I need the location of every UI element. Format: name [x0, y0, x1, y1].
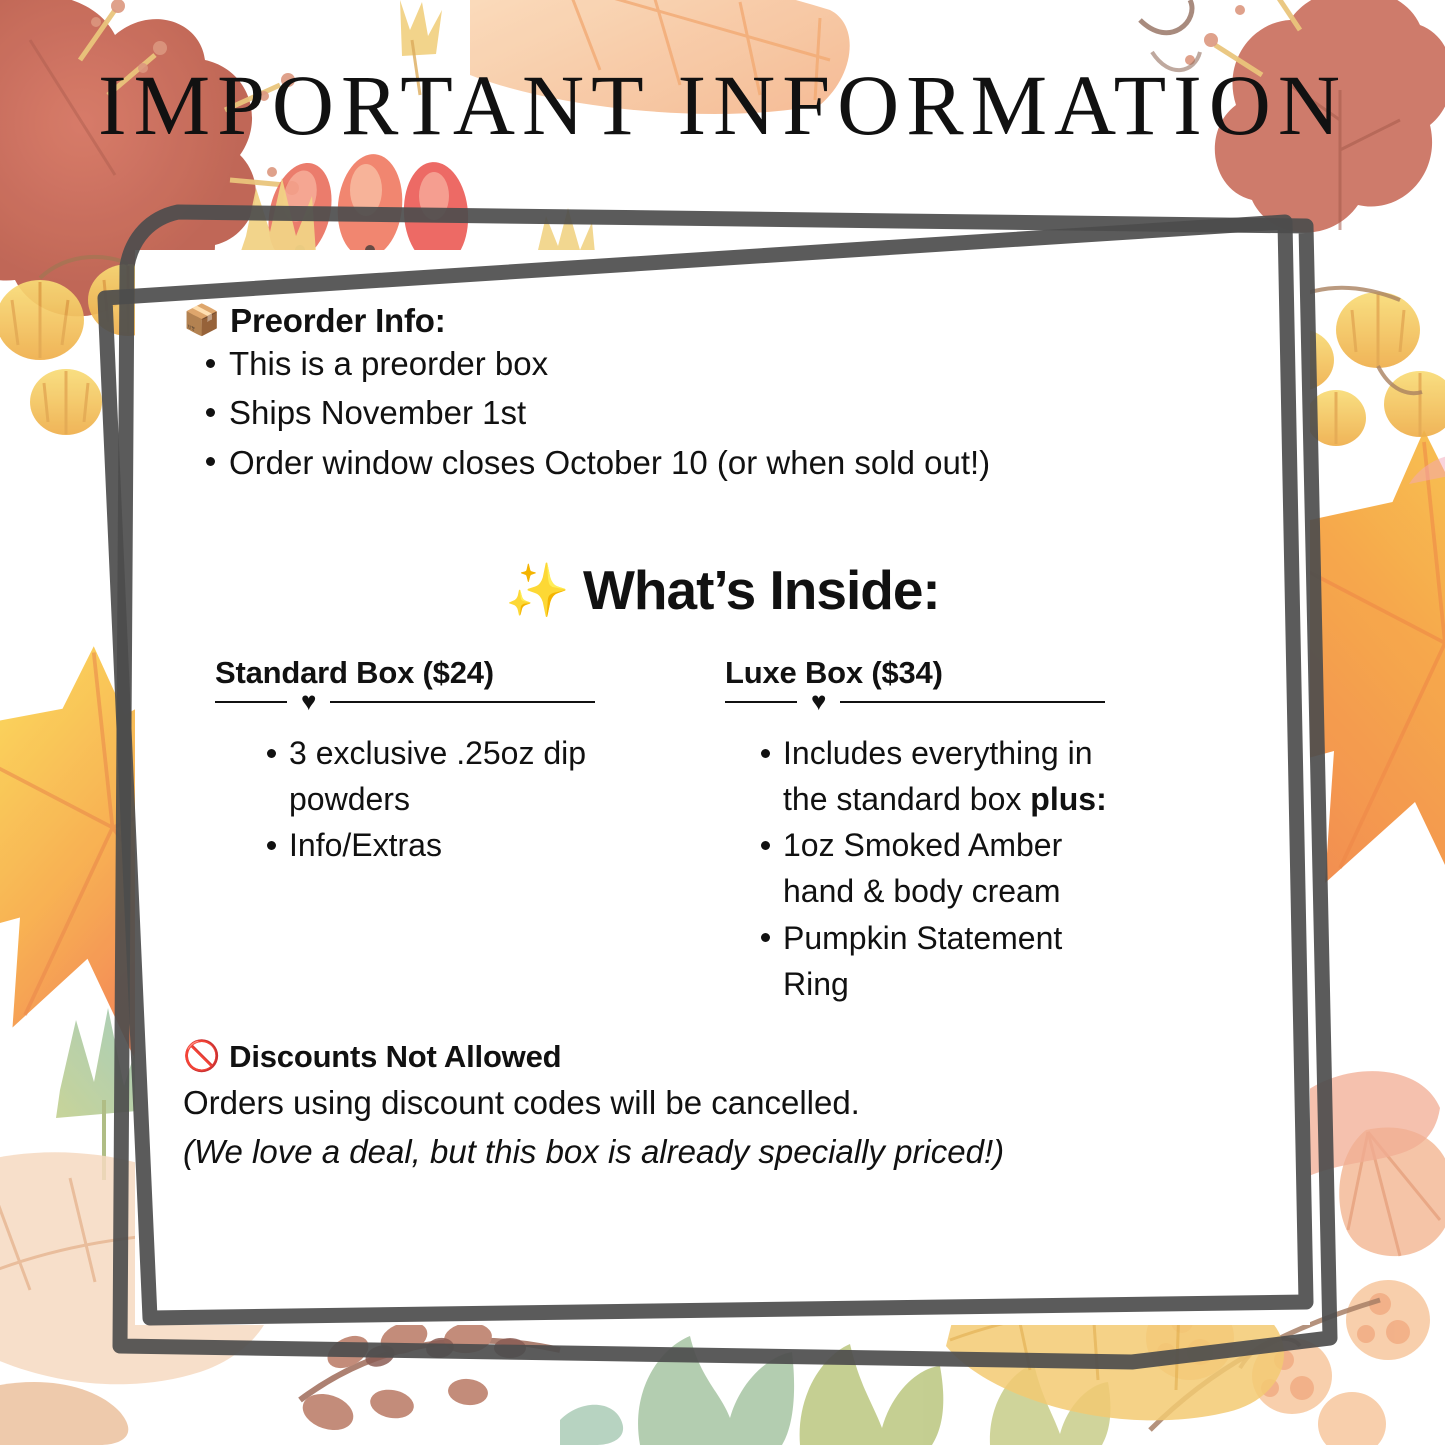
discount-heading: Discounts Not Allowed — [229, 1040, 561, 1074]
preorder-heading-row: 📦 Preorder Info: — [183, 303, 1243, 339]
list-item: This is a preorder box — [183, 339, 1243, 388]
discount-heading-row: 🚫 Discounts Not Allowed — [183, 1040, 1183, 1074]
standard-box-list: 3 exclusive .25oz dip powders Info/Extra… — [241, 730, 635, 868]
sparkles-emoji-icon: ✨ — [505, 565, 569, 617]
whats-inside-heading-row: ✨ What’s Inside: — [135, 562, 1310, 620]
discount-note: (We love a deal, but this box is already… — [183, 1128, 1183, 1177]
standard-box-column: Standard Box ($24) ♥ 3 exclusive .25oz d… — [135, 655, 635, 1007]
discount-line: Orders using discount codes will be canc… — [183, 1079, 1183, 1128]
luxe-box-column: Luxe Box ($34) ♥ Includes everything in … — [635, 655, 1135, 1007]
list-item: Info/Extras — [241, 822, 635, 868]
preorder-heading: Preorder Info: — [230, 303, 445, 339]
heart-icon: ♥ — [811, 694, 826, 710]
heart-icon: ♥ — [301, 694, 316, 710]
page-title: IMPORTANT INFORMATION — [0, 62, 1445, 148]
standard-box-heading: Standard Box ($24) — [215, 655, 635, 691]
preorder-info-section: 📦 Preorder Info: This is a preorder box … — [183, 303, 1243, 487]
list-item: Pumpkin Statement Ring — [735, 915, 1135, 1007]
discount-policy-section: 🚫 Discounts Not Allowed Orders using dis… — [183, 1040, 1183, 1176]
list-item: 1oz Smoked Amber hand & body cream — [735, 822, 1135, 914]
luxe-box-heading: Luxe Box ($34) — [725, 655, 1135, 691]
standard-box-divider: ♥ — [215, 695, 595, 711]
list-item: Order window closes October 10 (or when … — [183, 438, 1243, 487]
package-box-emoji-icon: 📦 — [183, 306, 220, 336]
list-item: Ships November 1st — [183, 388, 1243, 437]
whats-inside-heading: What’s Inside: — [583, 562, 940, 620]
prohibited-sign-emoji-icon: 🚫 — [183, 1042, 220, 1072]
preorder-list: This is a preorder box Ships November 1s… — [183, 339, 1243, 486]
poster-canvas: IMPORTANT INFORMATION 📦 Preorder Info: T… — [0, 0, 1445, 1445]
luxe-box-list: Includes everything in the standard box … — [735, 730, 1135, 1006]
list-item: Includes everything in the standard box … — [735, 730, 1135, 822]
divider-segment-short — [725, 701, 797, 703]
list-item-emphasis: plus: — [1030, 781, 1106, 817]
list-item: 3 exclusive .25oz dip powders — [241, 730, 635, 822]
divider-segment-long — [840, 701, 1105, 703]
divider-segment-long — [330, 701, 595, 703]
box-tiers-columns: Standard Box ($24) ♥ 3 exclusive .25oz d… — [135, 655, 1310, 1007]
poster-content: 📦 Preorder Info: This is a preorder box … — [135, 250, 1310, 1325]
divider-segment-short — [215, 701, 287, 703]
luxe-box-divider: ♥ — [725, 695, 1105, 711]
